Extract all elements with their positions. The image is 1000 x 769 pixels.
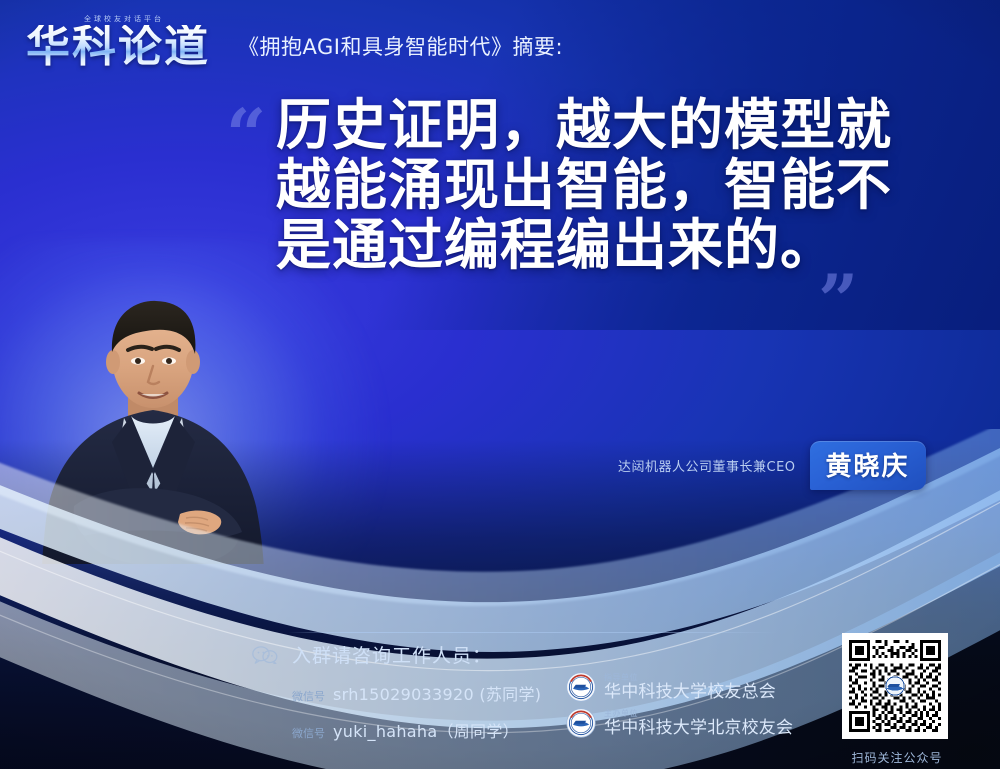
contact-section: 入群请咨询工作人员： 微信号 srh15029033920 (苏同学) 微信号 … bbox=[252, 641, 541, 742]
organization-name: 华中科技大学校友总会 bbox=[604, 684, 776, 701]
brand-logo[interactable]: 全球校友对话平台 华科论道 bbox=[26, 14, 222, 68]
speaker-name-badge: 黄晓庆 bbox=[810, 441, 926, 490]
poster-header: 全球校友对话平台 华科论道 《拥抱AGI和具身智能时代》摘要: bbox=[26, 14, 563, 68]
speaker-title: 达闼机器人公司董事长兼CEO bbox=[618, 456, 796, 475]
speaker-name: 黄晓庆 bbox=[826, 452, 910, 482]
organization-kind: 主办单位 bbox=[604, 710, 793, 718]
wechat-label: 微信号 bbox=[292, 688, 325, 704]
brand-logo-text: 华科论道 bbox=[26, 25, 222, 68]
quote-close-mark: ” bbox=[818, 266, 858, 336]
organization-row: 主办单位 华中科技大学北京校友会 bbox=[566, 708, 793, 738]
organization-kind: 指导单位 bbox=[604, 674, 776, 682]
qr-caption: 扫码关注公众号 bbox=[842, 749, 952, 766]
qr-section: 扫码关注公众号 bbox=[842, 633, 952, 766]
qr-code[interactable] bbox=[842, 633, 948, 739]
university-seal-icon bbox=[566, 672, 596, 702]
quote-line: 越能涌现出智能，智能不 bbox=[276, 156, 926, 216]
wechat-icon bbox=[252, 646, 278, 664]
contact-row: 微信号 srh15029033920 (苏同学) bbox=[292, 681, 541, 705]
footer-divider bbox=[288, 632, 778, 633]
university-seal-icon bbox=[566, 708, 596, 738]
quote-line: 历史证明，越大的模型就 bbox=[276, 96, 926, 156]
organization-name: 华中科技大学北京校友会 bbox=[604, 720, 793, 737]
page-title: 《拥抱AGI和具身智能时代》摘要: bbox=[238, 31, 563, 68]
organizations-section: 指导单位 华中科技大学校友总会 主办单位 华中科技大学北京校友会 bbox=[566, 672, 793, 744]
wechat-id[interactable]: yuki_hahaha（周同学） bbox=[333, 718, 519, 742]
quote-text: 历史证明，越大的模型就 越能涌现出智能，智能不 是通过编程编出来的。 bbox=[276, 96, 926, 276]
contact-row: 微信号 yuki_hahaha（周同学） bbox=[292, 718, 541, 742]
speaker-attribution: 达闼机器人公司董事长兼CEO 黄晓庆 bbox=[618, 441, 926, 490]
quote-open-mark: “ bbox=[226, 100, 266, 170]
poster-canvas: 全球校友对话平台 华科论道 《拥抱AGI和具身智能时代》摘要: “ ” 历史证明… bbox=[0, 0, 1000, 769]
wechat-label: 微信号 bbox=[292, 725, 325, 741]
quote-block: “ ” 历史证明，越大的模型就 越能涌现出智能，智能不 是通过编程编出来的。 bbox=[226, 96, 926, 276]
wechat-id[interactable]: srh15029033920 (苏同学) bbox=[333, 681, 541, 705]
contact-title: 入群请咨询工作人员： bbox=[292, 641, 492, 668]
organization-row: 指导单位 华中科技大学校友总会 bbox=[566, 672, 793, 702]
